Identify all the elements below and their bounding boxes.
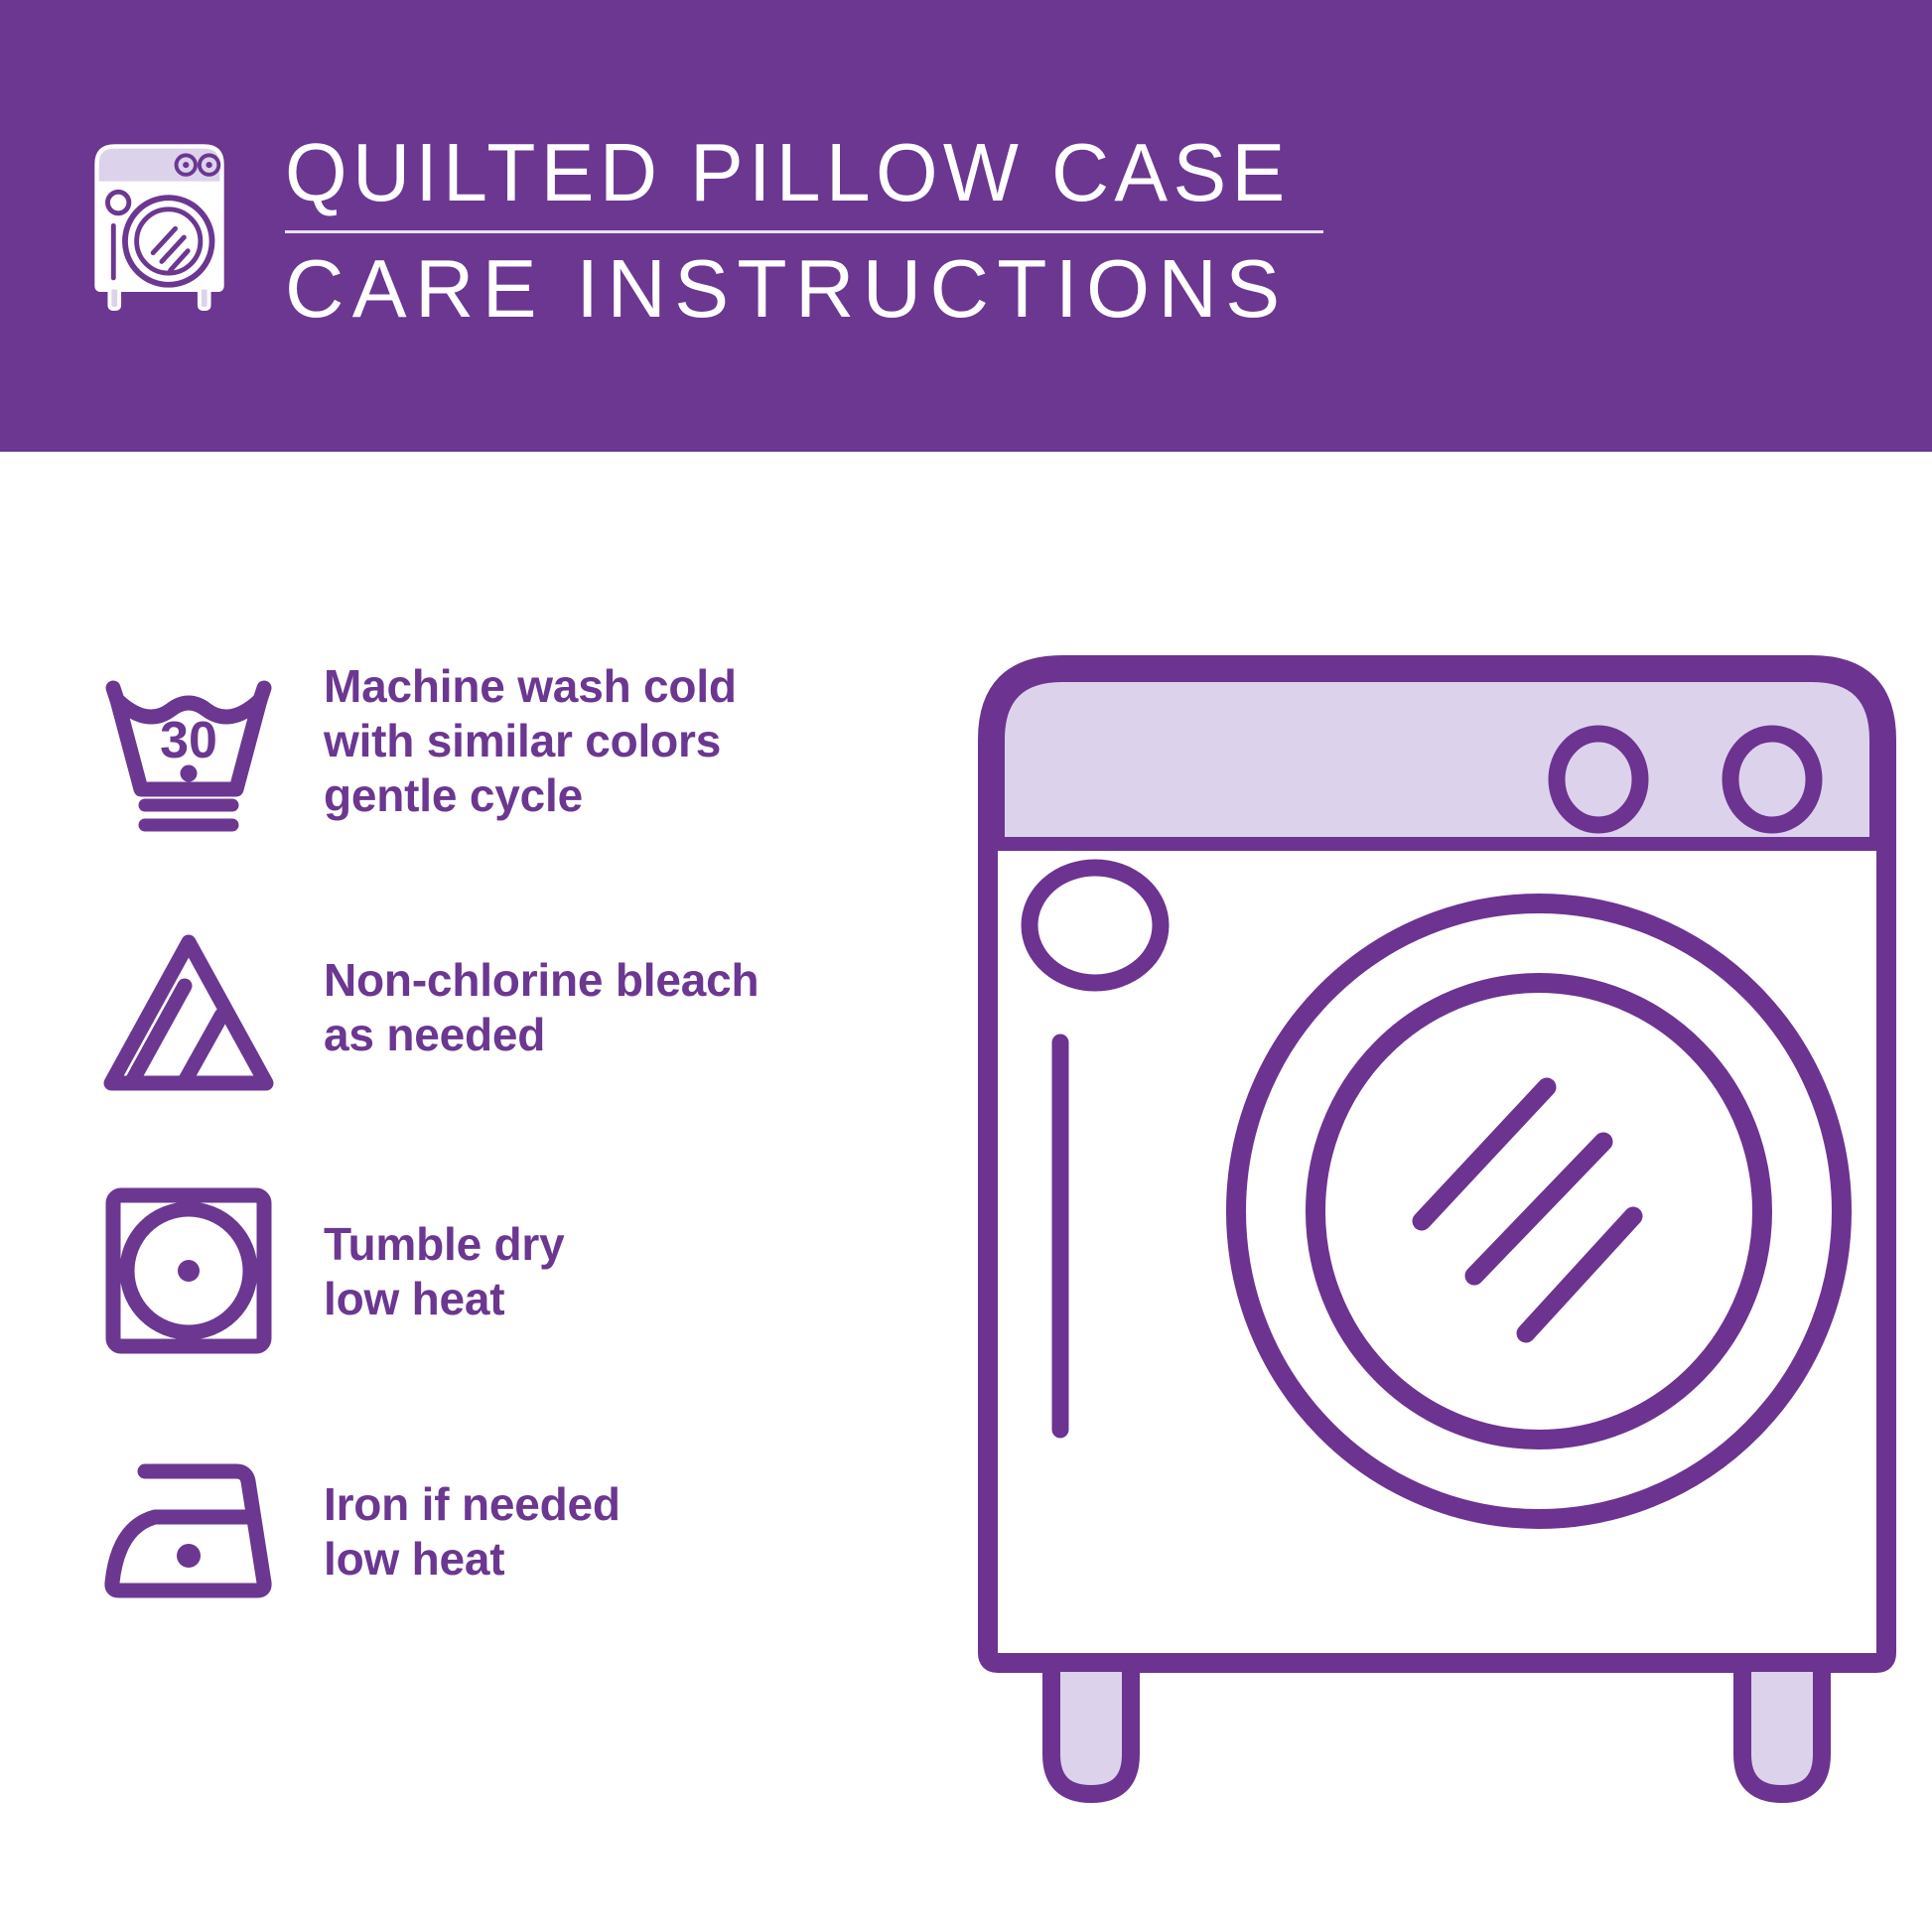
care-text-line: low heat: [324, 1272, 565, 1326]
care-text-line: with similar colors: [324, 714, 737, 768]
care-instructions-page: QUILTED PILLOW CASE CARE INSTRUCTIONS: [0, 0, 1932, 1932]
knob-left: [1557, 734, 1640, 825]
knob-right: [1730, 734, 1814, 825]
list-item: Non-chlorine bleach as needed: [89, 913, 903, 1172]
care-instruction-text: Tumble dry low heat: [324, 1172, 565, 1326]
list-item: 30 Machine wash cold with similar colors…: [89, 655, 903, 913]
care-text-line: Tumble dry: [324, 1217, 565, 1272]
leg-left: [1051, 1663, 1131, 1794]
care-text-line: Machine wash cold: [324, 659, 737, 714]
wash-tub-30-gentle-icon: 30: [89, 655, 288, 854]
page-subtitle: CARE INSTRUCTIONS: [285, 243, 1313, 335]
care-text-line: Iron if needed: [324, 1477, 621, 1532]
list-item: Iron if needed low heat: [89, 1430, 903, 1688]
care-text-line: Non-chlorine bleach: [324, 953, 759, 1008]
washing-machine-icon: [77, 133, 241, 312]
care-instruction-text: Machine wash cold with similar colors ge…: [324, 655, 737, 823]
care-text-line: low heat: [324, 1532, 621, 1587]
wash-temperature-label: 30: [160, 712, 217, 769]
header-banner: QUILTED PILLOW CASE CARE INSTRUCTIONS: [0, 0, 1932, 452]
care-instruction-text: Non-chlorine bleach as needed: [324, 913, 759, 1062]
care-instruction-list: 30 Machine wash cold with similar colors…: [89, 655, 903, 1688]
leg-right: [1742, 1663, 1822, 1794]
care-text-line: as needed: [324, 1008, 759, 1062]
header-content: QUILTED PILLOW CASE CARE INSTRUCTIONS: [77, 127, 1323, 335]
triangle-non-chlorine-bleach-icon: [89, 913, 288, 1112]
care-instruction-text: Iron if needed low heat: [324, 1430, 621, 1587]
list-item: Tumble dry low heat: [89, 1172, 903, 1430]
care-text-line: gentle cycle: [324, 768, 737, 823]
header-title-group: QUILTED PILLOW CASE CARE INSTRUCTIONS: [285, 127, 1323, 335]
tumble-dry-low-heat-icon: [89, 1172, 288, 1370]
iron-low-heat-icon: [89, 1430, 288, 1628]
title-divider: [285, 230, 1323, 233]
washing-machine-illustration: [948, 621, 1926, 1901]
page-title: QUILTED PILLOW CASE: [285, 127, 1293, 218]
